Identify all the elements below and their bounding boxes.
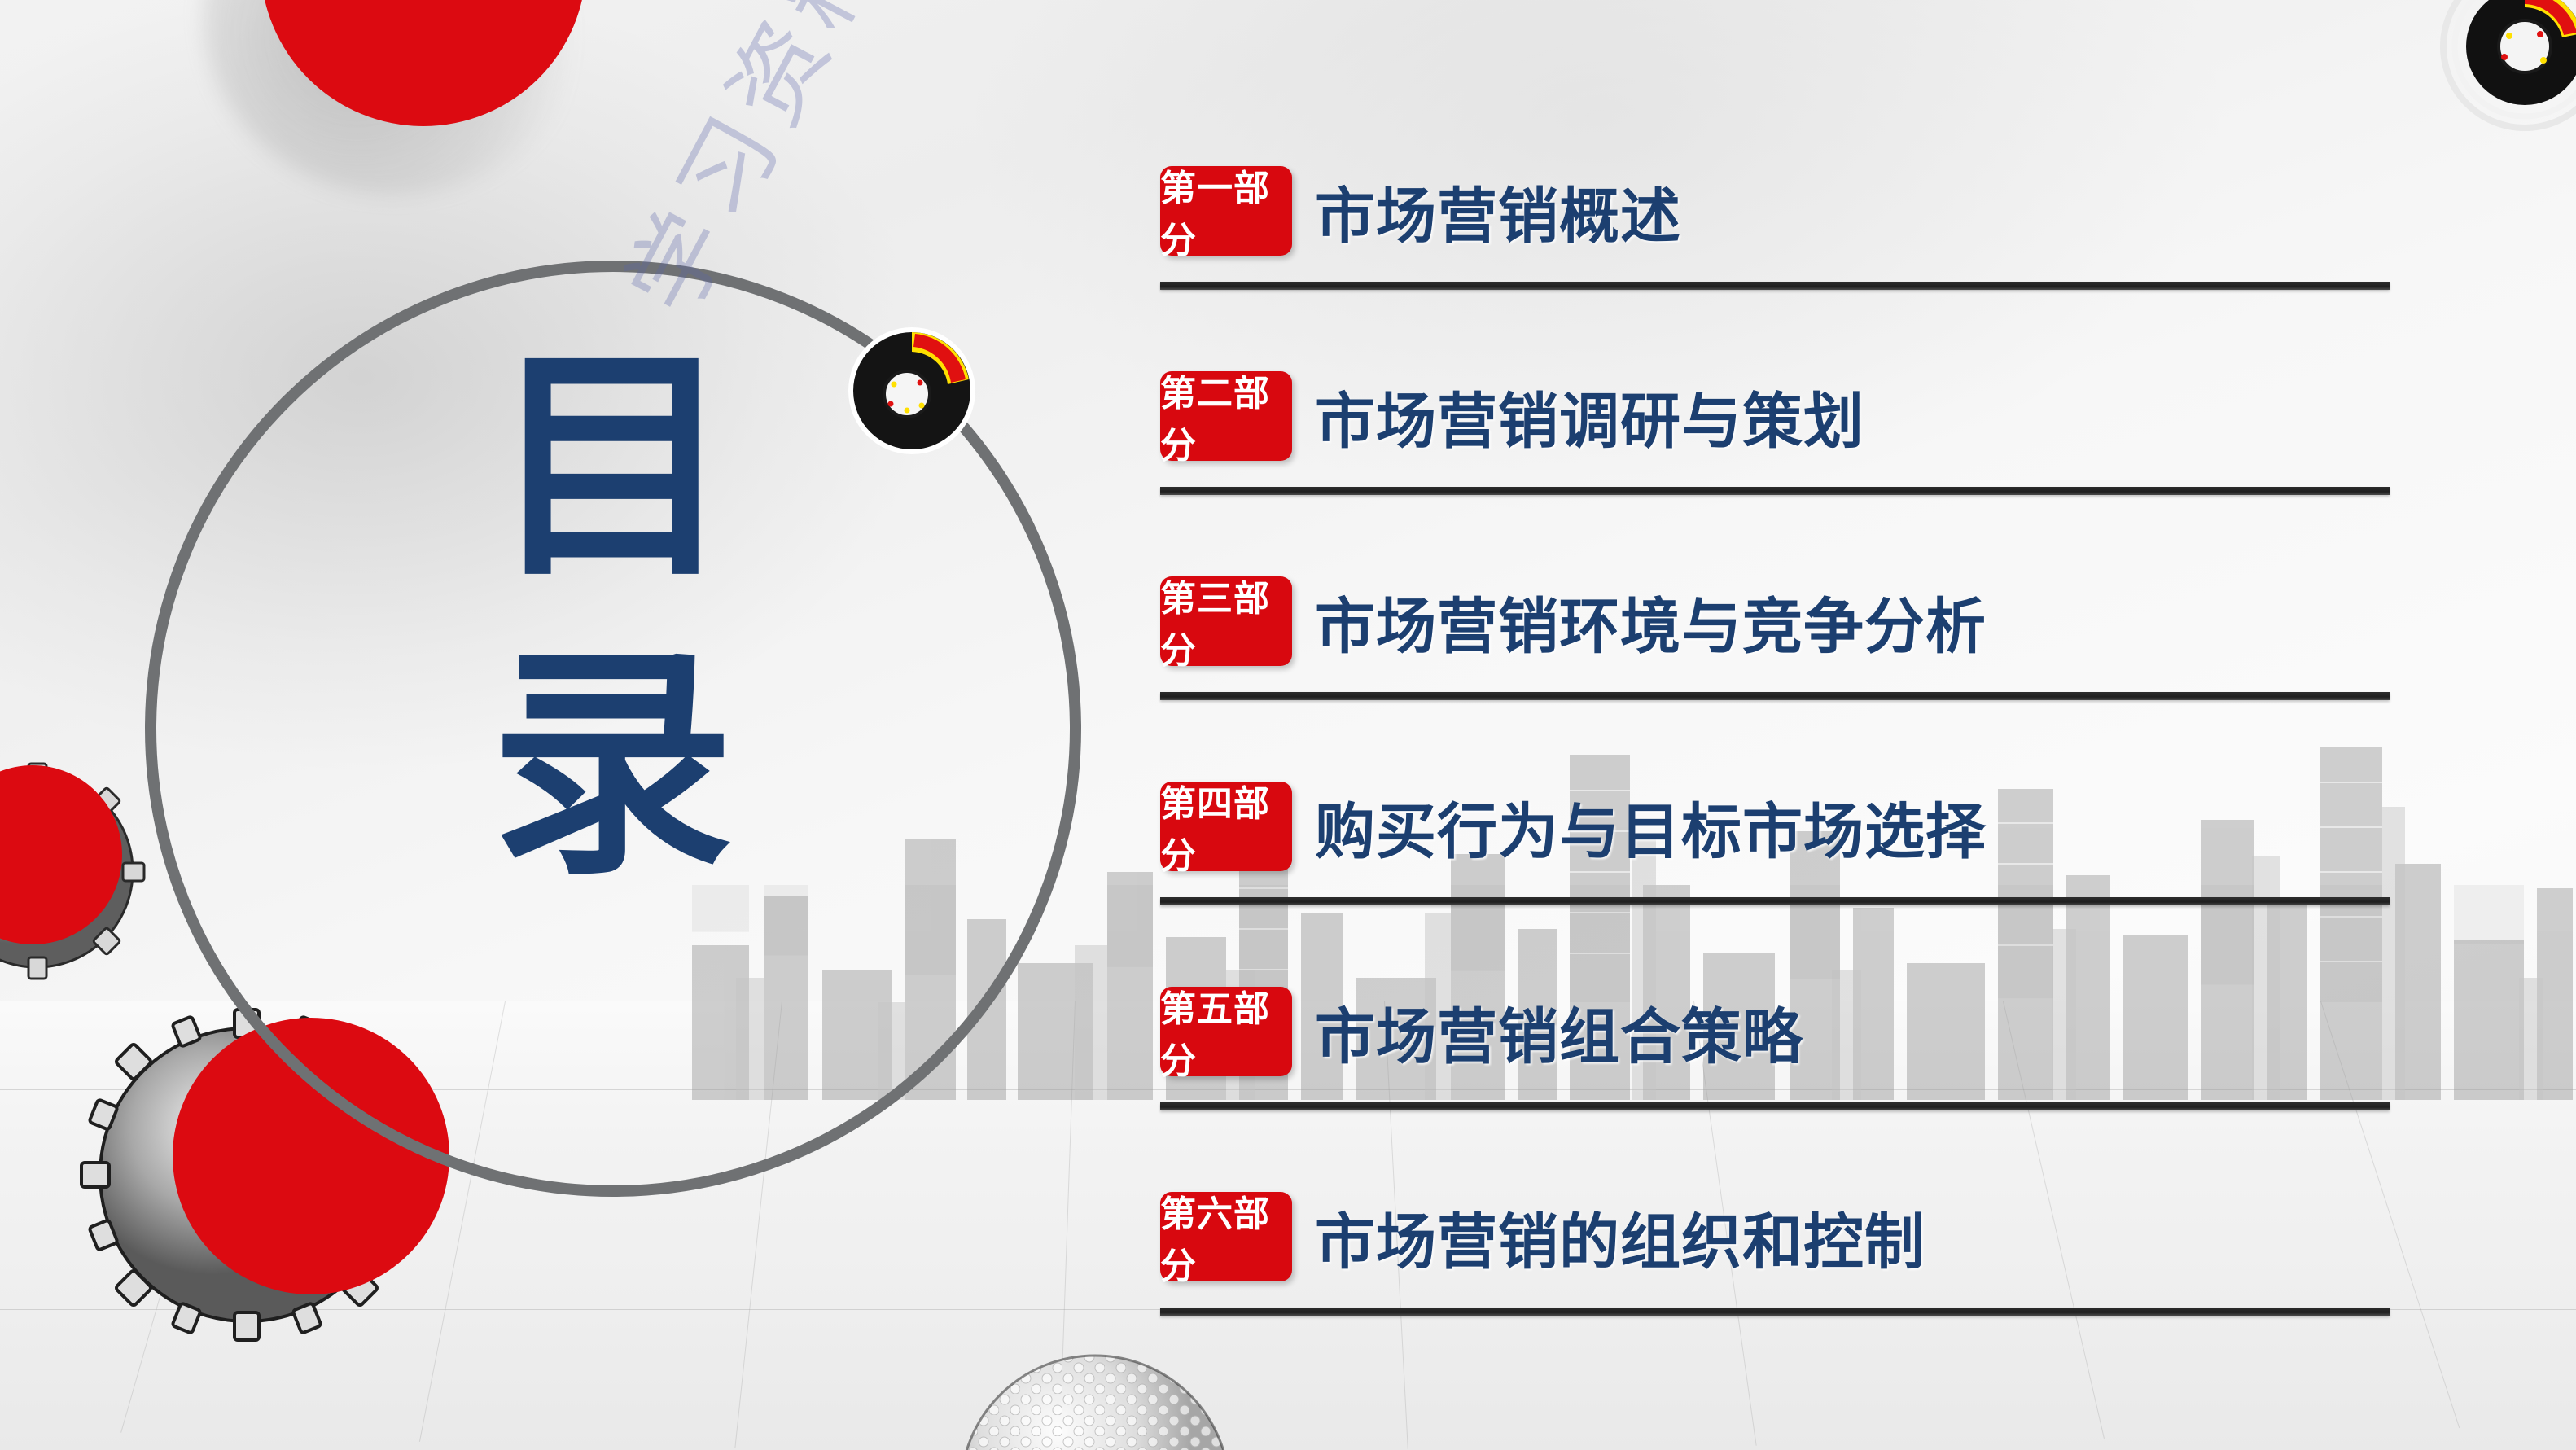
- toc-item-6[interactable]: 第六部分 市场营销的组织和控制: [1160, 1187, 2390, 1392]
- section-badge-3: 第三部分: [1160, 576, 1292, 666]
- section-divider-4: [1160, 897, 2390, 905]
- section-title-2: 市场营销调研与策划: [1315, 371, 1864, 461]
- toc-item-2[interactable]: 第二部分 市场营销调研与策划: [1160, 366, 2390, 572]
- section-title-5: 市场营销组合策略: [1315, 987, 1803, 1076]
- section-badge-6: 第六部分: [1160, 1192, 1292, 1281]
- section-badge-2: 第二部分: [1160, 371, 1292, 461]
- toc-item-5[interactable]: 第五部分 市场营销组合策略: [1160, 982, 2390, 1187]
- section-title-6: 市场营销的组织和控制: [1315, 1192, 1925, 1281]
- toc-item-4[interactable]: 第四部分 购买行为与目标市场选择: [1160, 777, 2390, 982]
- section-title-1: 市场营销概述: [1315, 166, 1681, 256]
- section-divider-2: [1160, 487, 2390, 495]
- section-divider-6: [1160, 1308, 2390, 1316]
- section-title-4: 购买行为与目标市场选择: [1315, 782, 1987, 871]
- section-badge-4: 第四部分: [1160, 782, 1292, 871]
- section-divider-1: [1160, 282, 2390, 290]
- presentation-slide: 目 录 第一部分 市场营销概述 第二部分 市场营销调研与策划: [0, 0, 2576, 1450]
- section-divider-3: [1160, 692, 2390, 700]
- orbit-ball-icon: [847, 326, 977, 456]
- section-title-3: 市场营销环境与竞争分析: [1315, 576, 1987, 666]
- table-of-contents-list: 第一部分 市场营销概述 第二部分 市场营销调研与策划 第三部分 市场营销环境与竞…: [1160, 161, 2390, 1392]
- section-divider-5: [1160, 1102, 2390, 1110]
- section-badge-1: 第一部分: [1160, 166, 1292, 256]
- ring-decoration-icon: [2439, 0, 2576, 132]
- toc-item-3[interactable]: 第三部分 市场营销环境与竞争分析: [1160, 572, 2390, 777]
- toc-item-1[interactable]: 第一部分 市场营销概述: [1160, 161, 2390, 366]
- section-badge-5: 第五部分: [1160, 987, 1292, 1076]
